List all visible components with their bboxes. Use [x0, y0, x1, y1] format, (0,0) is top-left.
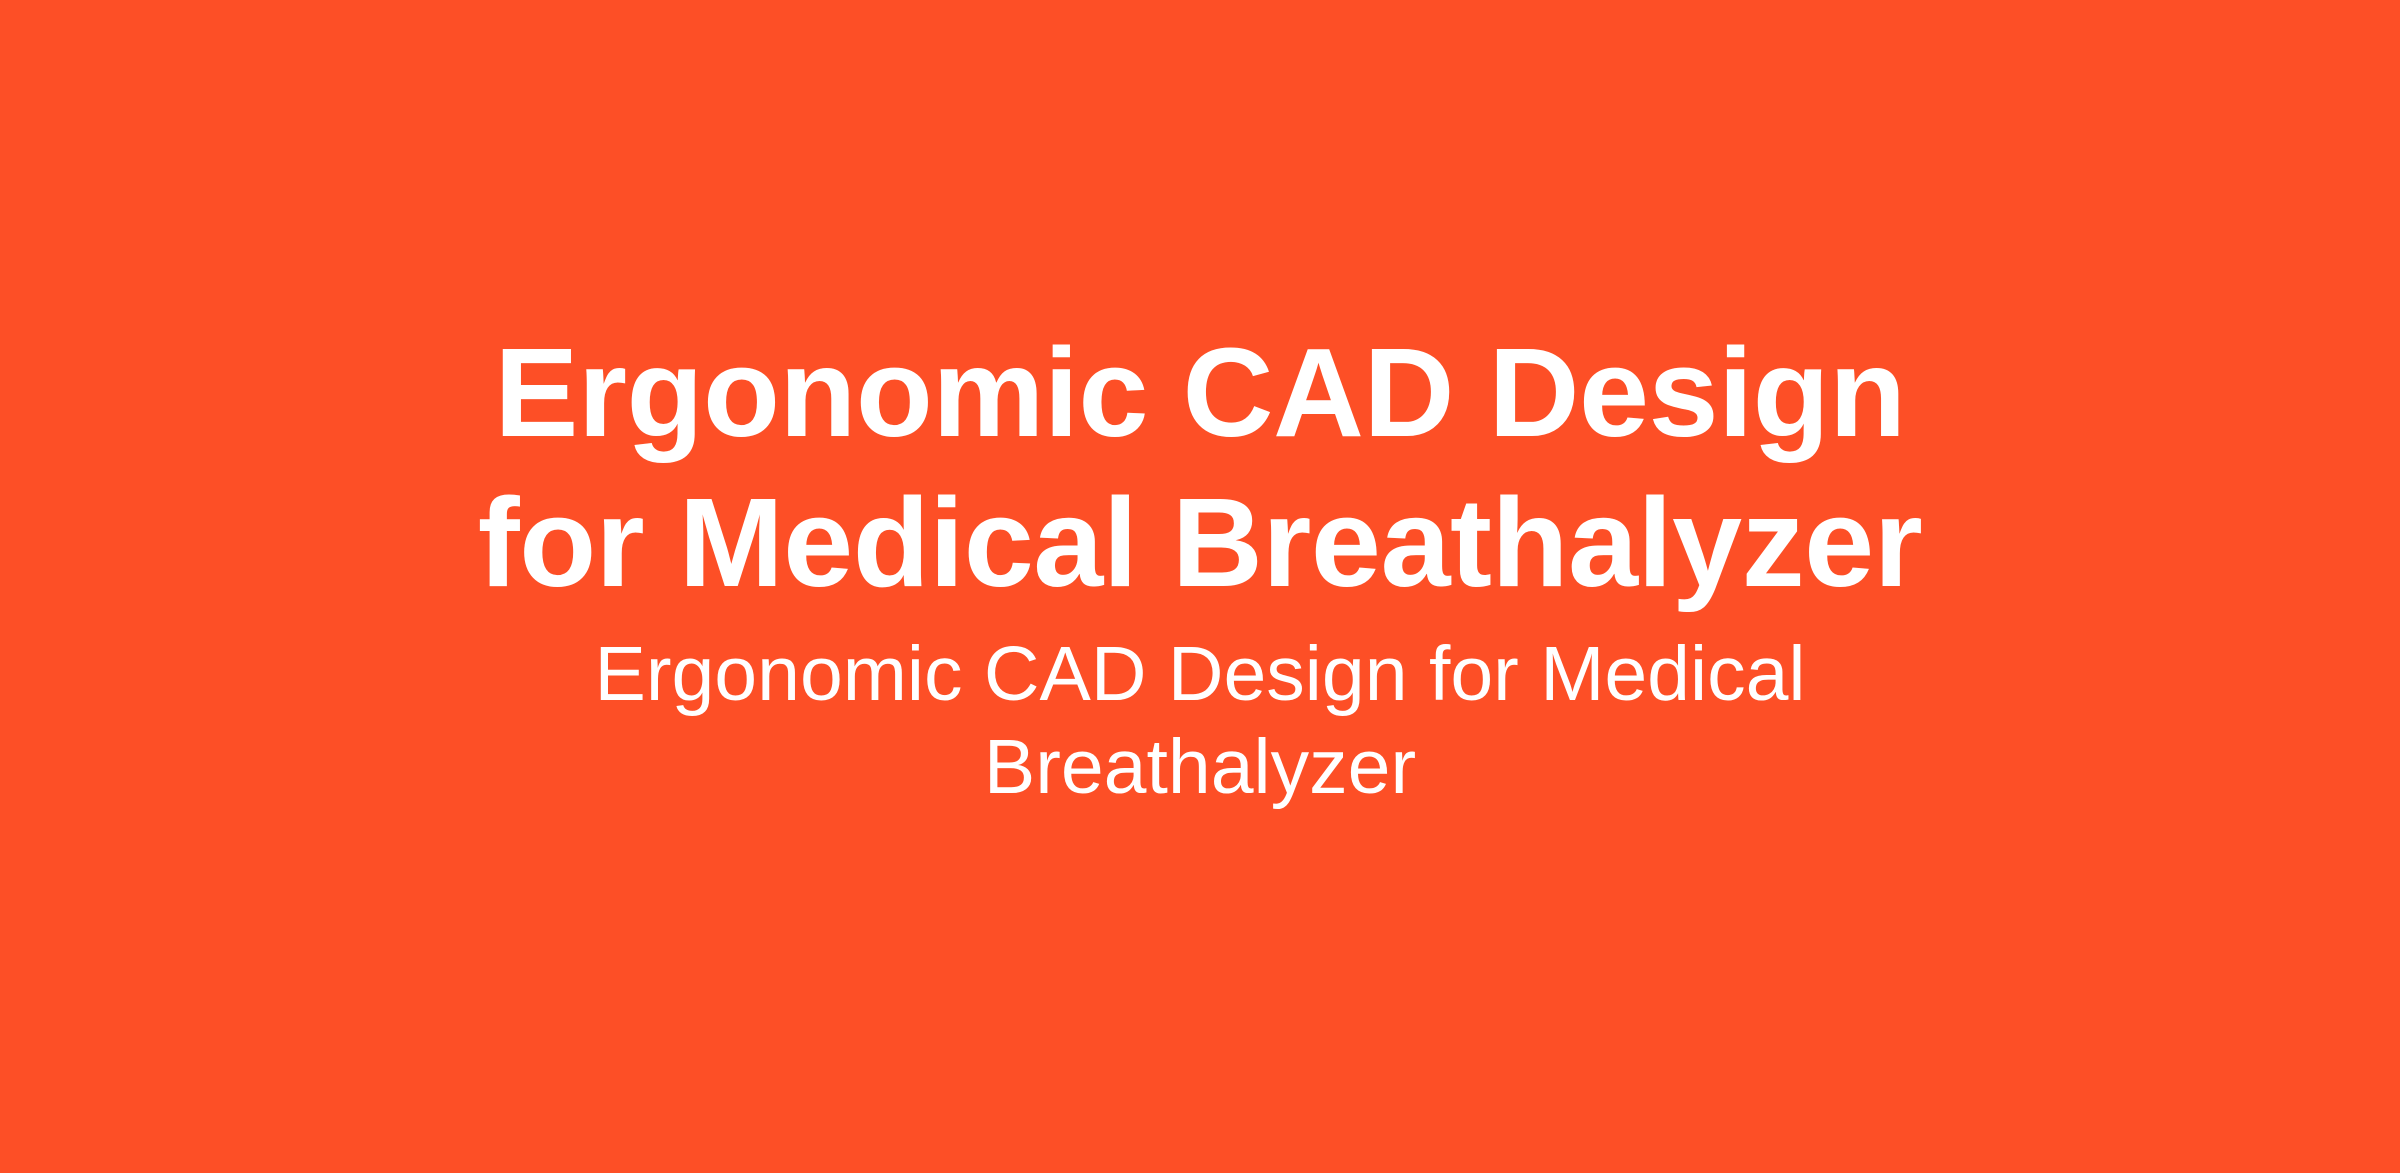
title-slide: Ergonomic CAD Design for Medical Breatha…	[0, 0, 2400, 1173]
slide-subtitle: Ergonomic CAD Design for Medical Breatha…	[420, 628, 1980, 814]
hero-text-block: Ergonomic CAD Design for Medical Breatha…	[420, 318, 1980, 814]
slide-title: Ergonomic CAD Design for Medical Breatha…	[420, 318, 1980, 618]
